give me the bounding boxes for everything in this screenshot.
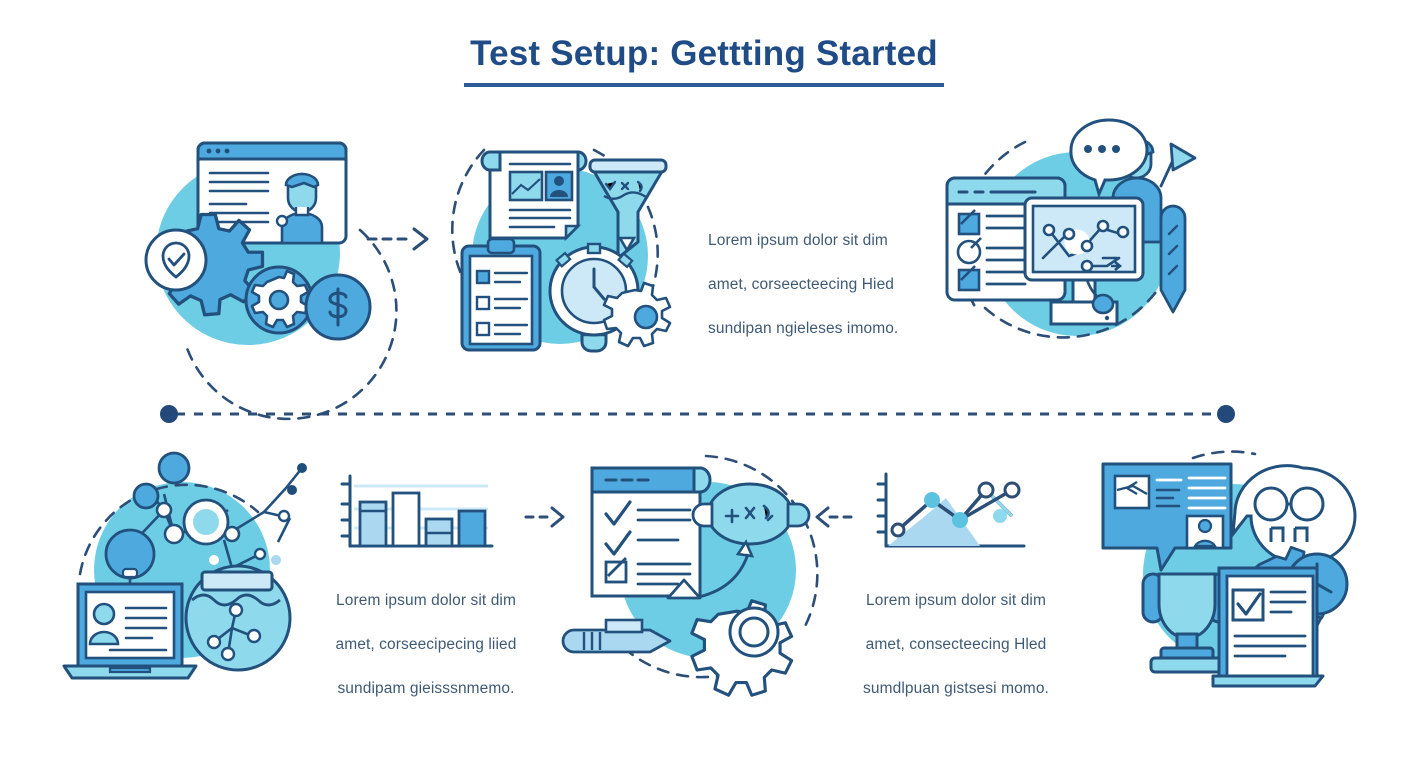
bar-1 bbox=[360, 502, 386, 546]
ellipsis-dot bbox=[1112, 145, 1120, 153]
step-2-text: Lorem ipsum dolor sit dim amet, corseect… bbox=[708, 208, 908, 362]
glasses-lens-right bbox=[1291, 488, 1323, 520]
text-line: sundipan ngieleses imomo. bbox=[708, 318, 908, 340]
step-7-text: Lorem ipsum dolor sit dim amet, consecte… bbox=[856, 568, 1056, 722]
node-dot bbox=[209, 555, 219, 565]
bar-4 bbox=[459, 511, 485, 546]
arrow-3 bbox=[810, 502, 856, 532]
small-gear bbox=[246, 267, 312, 333]
trophy bbox=[1143, 574, 1229, 672]
node bbox=[134, 484, 158, 508]
laptop-network-flask-illustration bbox=[52, 442, 332, 682]
science-flask bbox=[186, 566, 290, 670]
text-line: Lorem ipsum dolor sit dim bbox=[856, 590, 1056, 612]
divider-dot-right bbox=[1217, 405, 1235, 423]
checkbox bbox=[606, 562, 626, 582]
text-line: amet, corseecipecing liied bbox=[326, 634, 526, 656]
cursor-blob bbox=[1093, 295, 1113, 313]
browser-dot bbox=[216, 149, 221, 154]
node-small bbox=[225, 527, 239, 541]
trophy-base bbox=[1151, 658, 1223, 672]
bar-chart bbox=[336, 470, 498, 552]
dollar-coin bbox=[306, 275, 370, 339]
page-title-wrap: Test Setup: Gettting Started bbox=[0, 34, 1408, 87]
step-5-text: Lorem ipsum dolor sit dim amet, corseeci… bbox=[326, 568, 526, 722]
dashed-arc-top bbox=[1193, 452, 1255, 458]
node-small bbox=[165, 525, 183, 543]
flag-icon bbox=[1171, 144, 1195, 170]
bars bbox=[360, 493, 485, 546]
text-line: amet, corseecteecing Hied bbox=[708, 274, 908, 296]
node-dot bbox=[271, 555, 281, 565]
monitor-analytics-person-illustration bbox=[925, 112, 1215, 362]
line-chart bbox=[872, 468, 1038, 554]
thumbnail-chart bbox=[510, 172, 542, 200]
node-ring-inner bbox=[193, 509, 219, 535]
text-line: Lorem ipsum dolor sit dim bbox=[326, 590, 526, 612]
arrow-1 bbox=[366, 222, 436, 256]
page-title: Test Setup: Gettting Started bbox=[464, 34, 944, 87]
avatar-body bbox=[90, 632, 118, 644]
browser-dot bbox=[225, 149, 230, 154]
checkbox-filled bbox=[477, 271, 489, 283]
arrow-head bbox=[414, 229, 427, 249]
text-line: sumdlpuan gistsesi momo. bbox=[856, 678, 1056, 700]
text-line: sundipam gieisssnmemo. bbox=[326, 678, 526, 700]
arrow-head bbox=[817, 508, 828, 526]
document-checkmark bbox=[1213, 568, 1323, 686]
checkbox-empty bbox=[477, 297, 489, 309]
checklist-sheet bbox=[592, 468, 710, 596]
node-dot bbox=[255, 549, 265, 559]
divider-dot-left bbox=[160, 405, 178, 423]
node-dot bbox=[287, 485, 297, 495]
report-scroll bbox=[482, 152, 586, 238]
checklist-sheet-gear-illustration bbox=[560, 442, 840, 682]
text-line: Lorem ipsum dolor sit dim bbox=[708, 230, 908, 252]
node bbox=[159, 453, 189, 483]
clipboard-checklist bbox=[462, 239, 540, 350]
node-small bbox=[157, 503, 171, 517]
clip bbox=[488, 239, 514, 253]
trophy-report-clock-illustration bbox=[1085, 442, 1375, 692]
documents-funnel-stopwatch-illustration bbox=[432, 128, 682, 372]
ellipsis-dot bbox=[1098, 145, 1106, 153]
pencil bbox=[1161, 206, 1185, 312]
bar-2 bbox=[393, 493, 419, 546]
node-dot bbox=[279, 511, 289, 521]
infographic-canvas: Test Setup: Gettting Started bbox=[0, 0, 1408, 768]
radio-icon bbox=[958, 241, 980, 263]
glasses-lens-left bbox=[1255, 488, 1287, 520]
text-line: amet, consecteecing Hled bbox=[856, 634, 1056, 656]
ellipsis-dot bbox=[1084, 145, 1092, 153]
avatar-head bbox=[94, 604, 114, 624]
laptop-profile bbox=[64, 584, 196, 678]
node-dot bbox=[297, 463, 307, 473]
setup-gears-browser-illustration bbox=[110, 125, 400, 375]
timeline-divider bbox=[160, 405, 1235, 421]
browser-dot bbox=[207, 149, 212, 154]
checkbox-empty bbox=[477, 323, 489, 335]
pen-clip bbox=[606, 620, 642, 632]
